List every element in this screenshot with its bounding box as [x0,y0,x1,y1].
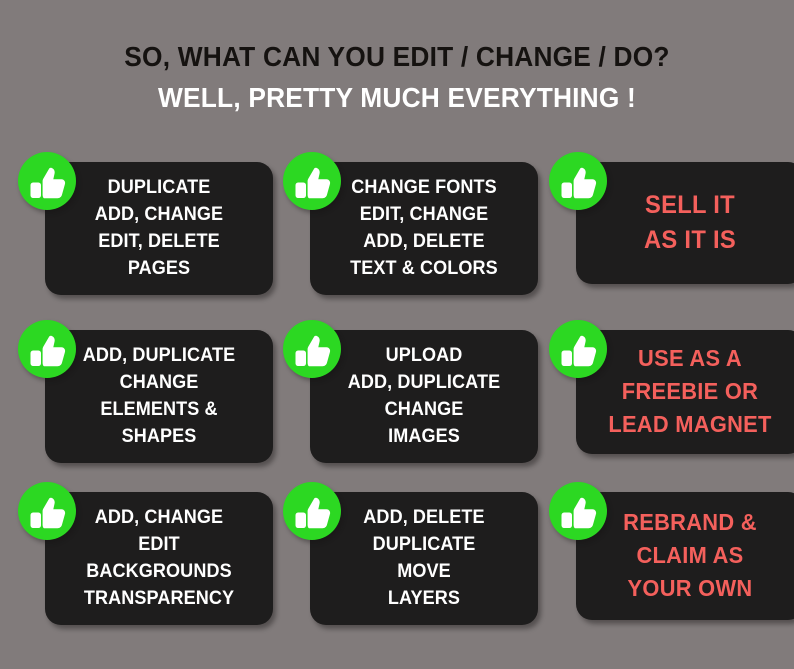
feature-card-backgrounds-transparency[interactable]: ADD, CHANGEEDITBACKGROUNDSTRANSPARENCY [45,492,273,625]
card-line: USE AS A [587,342,792,375]
card-line: CHANGE [56,369,261,396]
card-line: EDIT [56,531,261,558]
card-line: ADD, CHANGE [56,504,261,531]
card-cell-freebie-lead-magnet: USE AS AFREEBIE ORLEAD MAGNET [549,320,794,482]
card-cell-change-fonts: CHANGE FONTSEDIT, CHANGEADD, DELETETEXT … [283,152,528,320]
thumbs-up-icon [283,320,341,378]
card-line: TEXT & COLORS [322,255,527,282]
card-line: BACKGROUNDS [56,558,261,585]
card-line: MOVE [322,558,527,585]
thumbs-up-icon [283,152,341,210]
feature-card-sell-it-as-it-is[interactable]: SELL ITAS IT IS [576,162,794,284]
card-line: FREEBIE OR [587,375,792,408]
card-line: EDIT, CHANGE [322,201,527,228]
feature-card-layers[interactable]: ADD, DELETEDUPLICATEMOVELAYERS [310,492,538,625]
card-line: ADD, DUPLICATE [56,342,261,369]
thumbs-up-icon [18,320,76,378]
card-row: ADD, CHANGEEDITBACKGROUNDSTRANSPARENCYAD… [0,482,794,654]
card-line: AS IT IS [587,223,792,258]
card-line: DUPLICATE [56,174,261,201]
card-line: CHANGE FONTS [322,174,527,201]
card-cell-layers: ADD, DELETEDUPLICATEMOVELAYERS [283,482,528,654]
card-row: DUPLICATEADD, CHANGEEDIT, DELETEPAGESCHA… [0,152,794,320]
card-line: ELEMENTS & [56,396,261,423]
card-line: ADD, CHANGE [56,201,261,228]
thumbs-up-icon [549,320,607,378]
heading-line-2: WELL, PRETTY MUCH EVERYTHING ! [24,81,770,115]
card-line: REBRAND & [587,506,792,539]
thumbs-up-icon [549,482,607,540]
card-line: CLAIM AS [587,539,792,572]
thumbs-up-icon [283,482,341,540]
feature-card-images[interactable]: UPLOADADD, DUPLICATECHANGEIMAGES [310,330,538,463]
feature-card-rebrand-claim[interactable]: REBRAND &CLAIM ASYOUR OWN [576,492,794,620]
page-heading: SO, WHAT CAN YOU EDIT / CHANGE / DO? WEL… [0,40,794,115]
feature-card-grid: DUPLICATEADD, CHANGEEDIT, DELETEPAGESCHA… [0,152,794,654]
card-line: PAGES [56,255,261,282]
card-line: ADD, DELETE [322,228,527,255]
card-line: UPLOAD [322,342,527,369]
card-line: LEAD MAGNET [587,408,792,441]
card-line: YOUR OWN [587,572,792,605]
feature-card-change-fonts[interactable]: CHANGE FONTSEDIT, CHANGEADD, DELETETEXT … [310,162,538,295]
card-cell-backgrounds-transparency: ADD, CHANGEEDITBACKGROUNDSTRANSPARENCY [18,482,263,654]
card-line: EDIT, DELETE [56,228,261,255]
card-line: IMAGES [322,423,527,450]
thumbs-up-icon [549,152,607,210]
thumbs-up-icon [18,152,76,210]
card-line: ADD, DUPLICATE [322,369,527,396]
feature-card-freebie-lead-magnet[interactable]: USE AS AFREEBIE ORLEAD MAGNET [576,330,794,454]
thumbs-up-icon [18,482,76,540]
card-cell-sell-it-as-it-is: SELL ITAS IT IS [549,152,794,320]
feature-card-elements-shapes[interactable]: ADD, DUPLICATECHANGEELEMENTS &SHAPES [45,330,273,463]
card-line: SELL IT [587,188,792,223]
feature-card-duplicate-pages[interactable]: DUPLICATEADD, CHANGEEDIT, DELETEPAGES [45,162,273,295]
card-cell-rebrand-claim: REBRAND &CLAIM ASYOUR OWN [549,482,794,654]
card-line: CHANGE [322,396,527,423]
card-row: ADD, DUPLICATECHANGEELEMENTS &SHAPESUPLO… [0,320,794,482]
card-line: SHAPES [56,423,261,450]
card-cell-elements-shapes: ADD, DUPLICATECHANGEELEMENTS &SHAPES [18,320,263,482]
card-line: ADD, DELETE [322,504,527,531]
card-line: DUPLICATE [322,531,527,558]
card-line: LAYERS [322,585,527,612]
card-cell-images: UPLOADADD, DUPLICATECHANGEIMAGES [283,320,528,482]
heading-line-1: SO, WHAT CAN YOU EDIT / CHANGE / DO? [24,40,770,74]
card-line: TRANSPARENCY [56,585,261,612]
card-cell-duplicate-pages: DUPLICATEADD, CHANGEEDIT, DELETEPAGES [18,152,263,320]
